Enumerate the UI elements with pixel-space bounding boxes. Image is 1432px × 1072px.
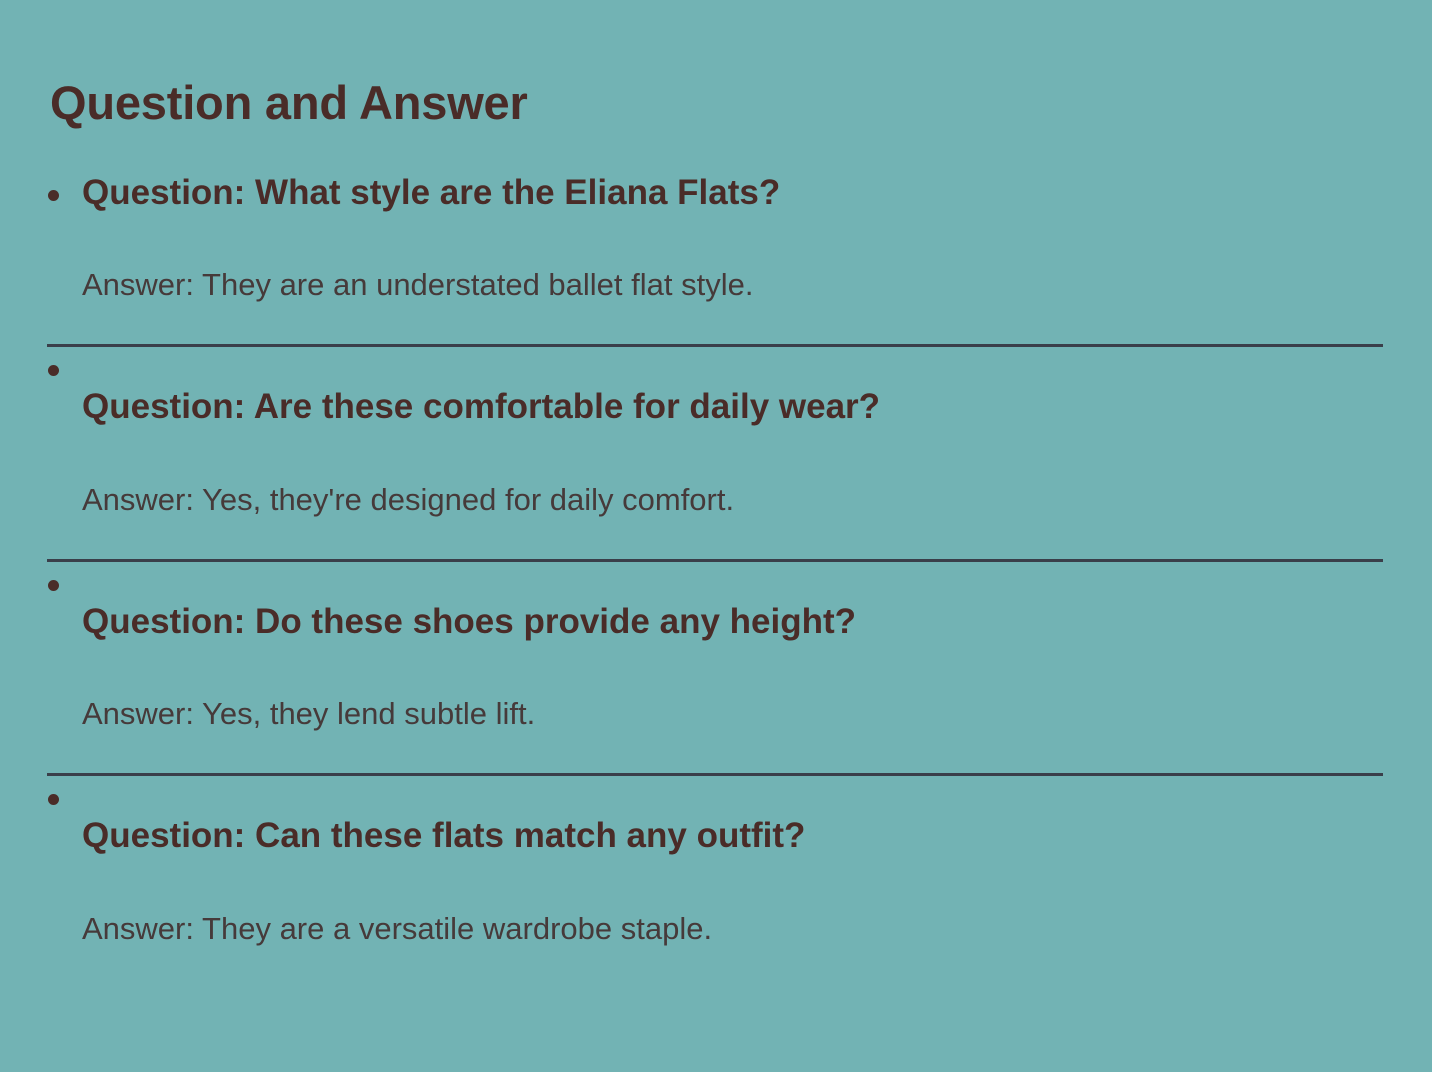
list-item: Question: What style are the Eliana Flat…	[0, 172, 1432, 347]
list-item: Question: Are these comfortable for dail…	[0, 347, 1432, 561]
qa-question-text: Question: What style are the Eliana Flat…	[82, 173, 780, 212]
question-and-answer-panel: Question and Answer Question: What style…	[0, 0, 1432, 1072]
qa-answer: Answer: They are a versatile wardrobe st…	[0, 857, 1432, 947]
bullet-icon	[48, 794, 59, 805]
page-title: Question and Answer	[50, 77, 528, 129]
qa-list: Question: What style are the Eliana Flat…	[0, 172, 1432, 947]
qa-question-text: Question: Do these shoes provide any hei…	[82, 602, 856, 641]
list-item: Question: Can these flats match any outf…	[0, 776, 1432, 946]
qa-answer: Answer: Yes, they lend subtle lift.	[0, 642, 1432, 732]
qa-question: Question: Can these flats match any outf…	[0, 776, 1432, 856]
qa-question: Question: What style are the Eliana Flat…	[0, 172, 1432, 213]
qa-question: Question: Are these comfortable for dail…	[0, 347, 1432, 427]
qa-answer: Answer: Yes, they're designed for daily …	[0, 428, 1432, 518]
bullet-icon	[48, 580, 59, 591]
qa-question-text: Question: Are these comfortable for dail…	[82, 387, 880, 426]
qa-question-text: Question: Can these flats match any outf…	[82, 816, 805, 855]
list-item: Question: Do these shoes provide any hei…	[0, 562, 1432, 776]
qa-answer: Answer: They are an understated ballet f…	[0, 213, 1432, 303]
bullet-icon	[48, 365, 59, 376]
bullet-icon	[48, 190, 59, 201]
qa-question: Question: Do these shoes provide any hei…	[0, 562, 1432, 642]
